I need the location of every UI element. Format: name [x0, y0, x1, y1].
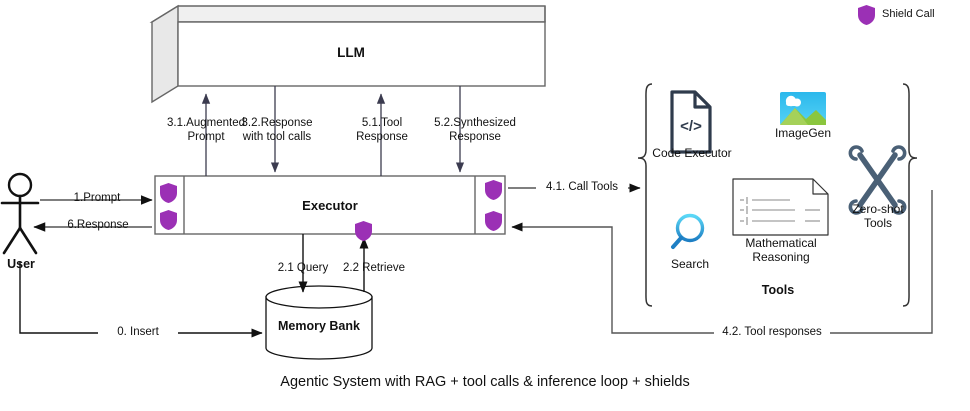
- llm-label: LLM: [311, 46, 391, 60]
- tool-label-code-executor: Code Executor: [646, 146, 738, 160]
- edge-label-response-tool-calls: 3.2.Response with tool calls: [232, 117, 322, 144]
- user-label: User: [0, 258, 42, 272]
- diagram-canvas: </>: [0, 0, 970, 411]
- shield-call-icon: [485, 211, 502, 231]
- edge-label-tool-responses: 4.2. Tool responses: [714, 326, 830, 340]
- shield-call-icon: [160, 183, 177, 203]
- magnifier-icon-shape: [673, 216, 703, 248]
- diagram-vector-layer: </>: [0, 0, 970, 411]
- edge-label-retrieve: 2.2 Retrieve: [334, 262, 414, 276]
- edge-label-query: 2.1 Query: [270, 262, 336, 276]
- tool-label-zero-shot-tools: Zero-shot Tools: [840, 202, 916, 230]
- legend-shield-icon: [858, 5, 875, 25]
- tool-label-math-reasoning: Mathematical Reasoning: [733, 236, 829, 264]
- tool-label-search: Search: [660, 257, 720, 271]
- tool-label-imagegen: ImageGen: [767, 126, 839, 140]
- diagram-caption: Agentic System with RAG + tool calls & i…: [0, 374, 970, 390]
- edge-label-call-tools: 4.1. Call Tools: [536, 181, 628, 195]
- edge-insert-line: [20, 262, 262, 333]
- shield-call-icon: [355, 221, 372, 241]
- shield-call-icon: [485, 180, 502, 200]
- tools-group-label: Tools: [738, 284, 818, 298]
- svg-text:</>: </>: [680, 118, 702, 135]
- edge-label-insert: 0. Insert: [98, 326, 178, 340]
- tools-group-brace-right: [903, 84, 917, 306]
- edge-label-synthesized-response: 5.2.Synthesized Response: [425, 117, 525, 144]
- executor-label: Executor: [290, 199, 370, 213]
- edge-label-tool-response: 5.1.Tool Response: [347, 117, 417, 144]
- legend-shield-label: Shield Call: [882, 8, 935, 20]
- edge-label-response: 6.Response: [52, 219, 144, 233]
- memory-bank-label: Memory Bank: [269, 320, 369, 334]
- shield-call-icon: [160, 210, 177, 230]
- formula-document-icon-shape: [733, 179, 828, 235]
- tools-group-brace-left: [638, 84, 652, 306]
- edge-label-prompt: 1.Prompt: [58, 192, 136, 206]
- user-stick-figure: [2, 174, 38, 253]
- image-picture-icon-shape: [780, 92, 826, 125]
- code-document-icon-shape: </>: [672, 92, 710, 152]
